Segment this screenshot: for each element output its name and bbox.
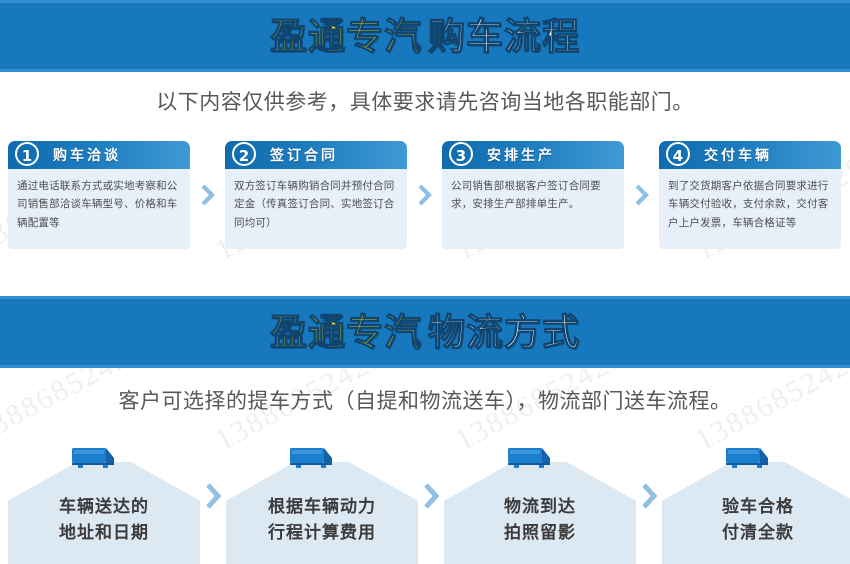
step-arrow-3: [624, 141, 659, 249]
logistics-card-2[interactable]: 根据车辆动力 行程计算费用: [226, 442, 418, 564]
chevron-right-icon: [417, 184, 432, 206]
chevron-right-icon: [200, 184, 215, 206]
step-title-1: 购车洽谈: [53, 145, 121, 165]
logistics-card-4-line1: 验车合格: [662, 494, 850, 520]
truck-icon: [70, 444, 126, 474]
logistics-card-4-text: 验车合格 付清全款: [662, 494, 850, 547]
banner-topic-text: 购车流程: [428, 15, 580, 58]
truck-icon: [288, 444, 344, 474]
chevron-right-icon: [640, 482, 659, 510]
chevron-right-icon: [204, 482, 223, 510]
truck-icon: [506, 444, 562, 474]
logistics-arrow-2: [418, 442, 444, 564]
step-title-4: 交付车辆: [704, 145, 772, 165]
logistics-card-1-line1: 车辆送达的: [8, 494, 200, 520]
step-number-badge-1: 1: [15, 142, 39, 166]
step-card-2[interactable]: 2 签订合同 双方签订车辆购销合同并预付合同定金（传真签订合同、实地签订合同均可…: [225, 141, 407, 249]
logistics-card-2-line1: 根据车辆动力: [226, 494, 418, 520]
step-arrow-1: [190, 141, 225, 249]
chevron-right-icon: [634, 184, 649, 206]
step-number-badge-4: 4: [666, 142, 690, 166]
logistics-card-3-line1: 物流到达: [444, 494, 636, 520]
step-card-1[interactable]: 1 购车洽谈 通过电话联系方式或实地考察和公司销售部洽谈车辆型号、价格和车辆配置…: [8, 141, 190, 249]
logistics-card-4-line2: 付清全款: [662, 520, 850, 546]
step-card-1-header: 1 购车洽谈: [8, 141, 190, 169]
purchase-flow-banner-title: 盈通专汽购车流程: [270, 18, 580, 55]
step-body-2: 双方签订车辆购销合同并预付合同定金（传真签订合同、实地签订合同均可）: [225, 169, 407, 249]
logistics-banner: 盈通专汽物流方式: [0, 296, 850, 368]
logistics-card-1-text: 车辆送达的 地址和日期: [8, 494, 200, 547]
logistics-card-4[interactable]: 验车合格 付清全款: [662, 442, 850, 564]
logistics-card-2-text: 根据车辆动力 行程计算费用: [226, 494, 418, 547]
logistics-card-1-line2: 地址和日期: [8, 520, 200, 546]
step-card-3-header: 3 安排生产: [442, 141, 624, 169]
brand-name-text: 盈通专汽: [270, 15, 422, 58]
step-card-4-header: 4 交付车辆: [659, 141, 841, 169]
purchase-flow-subtitle: 以下内容仅供参考，具体要求请先咨询当地各职能部门。: [0, 86, 850, 116]
chevron-right-icon: [422, 482, 441, 510]
brand-name-text: 盈通专汽: [270, 311, 422, 354]
step-arrow-2: [407, 141, 442, 249]
logistics-card-3-line2: 拍照留影: [444, 520, 636, 546]
logistics-card-3[interactable]: 物流到达 拍照留影: [444, 442, 636, 564]
logistics-card-2-line2: 行程计算费用: [226, 520, 418, 546]
purchase-flow-banner: 盈通专汽购车流程: [0, 0, 850, 72]
banner-topic-text: 物流方式: [428, 311, 580, 354]
step-card-3[interactable]: 3 安排生产 公司销售部根据客户签订合同要求，安排生产部排单生产。: [442, 141, 624, 249]
step-body-3: 公司销售部根据客户签订合同要求，安排生产部排单生产。: [442, 169, 624, 249]
step-number-badge-3: 3: [449, 142, 473, 166]
logistics-card-3-text: 物流到达 拍照留影: [444, 494, 636, 547]
step-title-2: 签订合同: [270, 145, 338, 165]
step-number-badge-2: 2: [232, 142, 256, 166]
logistics-arrow-1: [200, 442, 226, 564]
step-card-2-header: 2 签订合同: [225, 141, 407, 169]
step-body-1: 通过电话联系方式或实地考察和公司销售部洽谈车辆型号、价格和车辆配置等: [8, 169, 190, 249]
logistics-card-1[interactable]: 车辆送达的 地址和日期: [8, 442, 200, 564]
step-card-4[interactable]: 4 交付车辆 到了交货期客户依据合同要求进行车辆交付验收，支付余款，交付客户上户…: [659, 141, 841, 249]
logistics-arrow-3: [636, 442, 662, 564]
step-title-3: 安排生产: [487, 145, 555, 165]
truck-icon: [724, 444, 780, 474]
logistics-cards-row: 车辆送达的 地址和日期 根据车辆动力 行程计算费用: [0, 428, 850, 564]
logistics-banner-title: 盈通专汽物流方式: [270, 314, 580, 351]
logistics-subtitle: 客户可选择的提车方式（自提和物流送车），物流部门送车流程。: [0, 385, 850, 415]
purchase-steps-row: 1 购车洽谈 通过电话联系方式或实地考察和公司销售部洽谈车辆型号、价格和车辆配置…: [8, 141, 842, 251]
step-body-4: 到了交货期客户依据合同要求进行车辆交付验收，支付余款，交付客户上户发票，车辆合格…: [659, 169, 841, 249]
